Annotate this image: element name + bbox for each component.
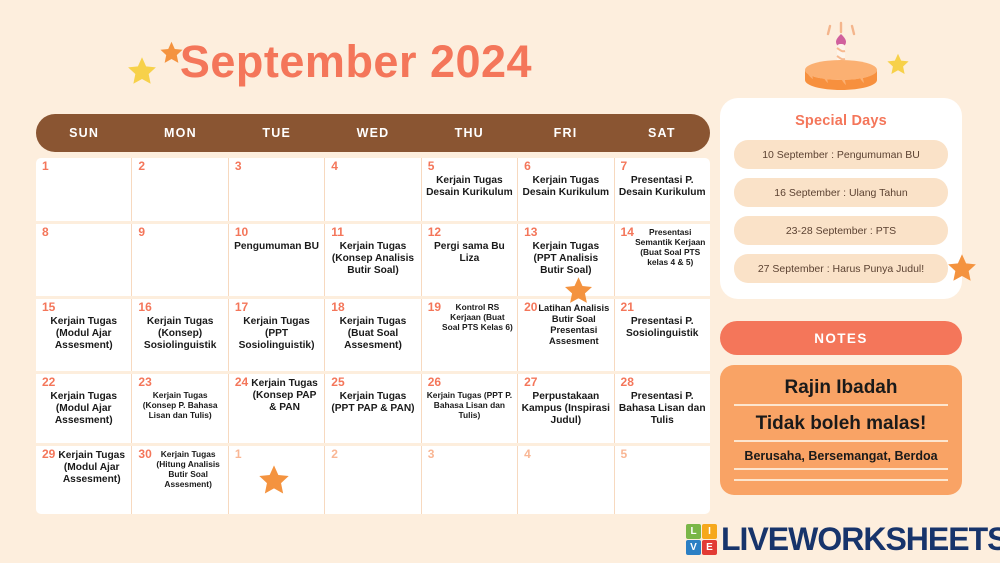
- day-event-text: Kerjain Tugas (Konsep P. Bahasa Lisan da…: [135, 391, 224, 421]
- calendar-day-cell[interactable]: 24Kerjain Tugas (Konsep PAP & PAN: [229, 374, 325, 443]
- birthday-cake-icon: [795, 14, 887, 96]
- star-icon-yellow-cake: [885, 52, 911, 78]
- day-event-text: Presentasi P. Desain Kurikulum: [618, 175, 707, 199]
- day-of-week-header: SUN MON TUE WED THU FRI SAT: [36, 114, 710, 152]
- page-title: September 2024: [0, 36, 712, 88]
- calendar-day-cell[interactable]: 26Kerjain Tugas (PPT P. Bahasa Lisan dan…: [422, 374, 518, 443]
- calendar-day-cell[interactable]: 3: [229, 158, 325, 221]
- calendar-day-cell[interactable]: 10Pengumuman BU: [229, 224, 325, 296]
- day-number: 4: [331, 160, 338, 173]
- calendar-day-cell[interactable]: 5Kerjain Tugas Desain Kurikulum: [422, 158, 518, 221]
- calendar-day-cell[interactable]: 18Kerjain Tugas (Buat Soal Assesment): [325, 299, 421, 371]
- calendar-day-cell[interactable]: 2: [132, 158, 228, 221]
- special-day-item[interactable]: 16 September : Ulang Tahun: [734, 178, 948, 207]
- dow-label-tue: TUE: [229, 126, 325, 140]
- day-number: 22: [42, 376, 55, 389]
- calendar-day-cell[interactable]: 21Presentasi P. Sosiolinguistik: [615, 299, 710, 371]
- day-number: 26: [428, 376, 441, 389]
- calendar-day-cell[interactable]: 11Kerjain Tugas (Konsep Analisis Butir S…: [325, 224, 421, 296]
- special-day-item[interactable]: 10 September : Pengumuman BU: [734, 140, 948, 169]
- day-number: 12: [428, 226, 441, 239]
- calendar-week-row: 22Kerjain Tugas (Modul Ajar Assesment)23…: [36, 374, 710, 443]
- logo-square-i: I: [702, 524, 717, 539]
- dow-label-wed: WED: [325, 126, 421, 140]
- calendar-day-cell[interactable]: 1: [36, 158, 132, 221]
- notes-button[interactable]: NOTES: [720, 321, 962, 355]
- day-event-text: Kerjain Tugas (Modul Ajar Assesment): [39, 316, 128, 352]
- day-event-text: Pengumuman BU: [232, 241, 321, 253]
- calendar-day-cell[interactable]: 16Kerjain Tugas (Konsep) Sosiolinguistik: [132, 299, 228, 371]
- note-line: Tidak boleh malas!: [734, 413, 948, 442]
- day-number: 9: [138, 226, 145, 239]
- calendar-day-cell[interactable]: 25Kerjain Tugas (PPT PAP & PAN): [325, 374, 421, 443]
- calendar-day-cell[interactable]: 28Presentasi P. Bahasa Lisan dan Tulis: [615, 374, 710, 443]
- day-number: 6: [524, 160, 531, 173]
- calendar-day-cell[interactable]: 19Kontrol RS Kerjaan (Buat Soal PTS Kela…: [422, 299, 518, 371]
- day-number: 18: [331, 301, 344, 314]
- calendar-day-cell[interactable]: 14Presentasi Semantik Kerjaan (Buat Soal…: [615, 224, 710, 296]
- day-number: 29: [42, 448, 55, 461]
- day-number: 25: [331, 376, 344, 389]
- day-number: 13: [524, 226, 537, 239]
- special-days-card: Special Days 10 September : Pengumuman B…: [720, 98, 962, 299]
- calendar-day-cell[interactable]: 15Kerjain Tugas (Modul Ajar Assesment): [36, 299, 132, 371]
- day-number: 27: [524, 376, 537, 389]
- day-number: 8: [42, 226, 49, 239]
- calendar-day-cell[interactable]: 30Kerjain Tugas (Hitung Analisis Butir S…: [132, 446, 228, 514]
- day-number: 14: [621, 226, 634, 239]
- day-number: 5: [621, 448, 628, 461]
- calendar-week-row: 29Kerjain Tugas (Modul Ajar Assesment)30…: [36, 446, 710, 514]
- day-number: 1: [42, 160, 49, 173]
- calendar-day-cell[interactable]: 12Pergi sama Bu Liza: [422, 224, 518, 296]
- day-event-text: Kerjain Tugas (Modul Ajar Assesment): [39, 391, 128, 427]
- liveworksheets-logo: LIVE LIVEWORKSHEETS: [686, 521, 1000, 557]
- dow-label-sun: SUN: [36, 126, 132, 140]
- day-number: 17: [235, 301, 248, 314]
- logo-text: LIVEWORKSHEETS: [721, 521, 1000, 558]
- day-number: 3: [428, 448, 435, 461]
- day-event-text: Pergi sama Bu Liza: [425, 241, 514, 265]
- calendar-day-cell[interactable]: 23Kerjain Tugas (Konsep P. Bahasa Lisan …: [132, 374, 228, 443]
- calendar-weeks: 12345Kerjain Tugas Desain Kurikulum6Kerj…: [36, 158, 710, 514]
- day-event-text: Kerjain Tugas (PPT Analisis Butir Soal): [521, 241, 610, 277]
- calendar-day-cell[interactable]: 4: [325, 158, 421, 221]
- note-line-blank: [734, 479, 948, 481]
- logo-square-e: E: [702, 540, 717, 555]
- calendar-day-cell[interactable]: 17Kerjain Tugas (PPT Sosiolinguistik): [229, 299, 325, 371]
- day-event-text: Kerjain Tugas Desain Kurikulum: [521, 175, 610, 199]
- calendar-week-row: 15Kerjain Tugas (Modul Ajar Assesment)16…: [36, 299, 710, 371]
- calendar-day-cell[interactable]: 6Kerjain Tugas Desain Kurikulum: [518, 158, 614, 221]
- dow-label-sat: SAT: [614, 126, 710, 140]
- day-number: 2: [331, 448, 338, 461]
- calendar-day-cell[interactable]: 27Perpustakaan Kampus (Inspirasi Judul): [518, 374, 614, 443]
- logo-squares: LIVE: [686, 524, 717, 555]
- day-number: 4: [524, 448, 531, 461]
- note-line: Rajin Ibadah: [734, 377, 948, 406]
- day-event-text: Kerjain Tugas (Konsep) Sosiolinguistik: [135, 316, 224, 352]
- calendar-day-cell[interactable]: 1: [229, 446, 325, 514]
- calendar-page: September 2024 SUN MON TUE WED THU FRI: [0, 0, 1000, 563]
- special-day-item[interactable]: 27 September : Harus Punya Judul!: [734, 254, 948, 283]
- day-event-text: Kerjain Tugas (Buat Soal Assesment): [328, 316, 417, 352]
- special-day-item[interactable]: 23-28 September : PTS: [734, 216, 948, 245]
- day-event-text: Kerjain Tugas (PPT PAP & PAN): [328, 391, 417, 415]
- day-number: 21: [621, 301, 634, 314]
- day-number: 1: [235, 448, 242, 461]
- day-event-text: Presentasi P. Sosiolinguistik: [618, 316, 707, 340]
- calendar-grid: SUN MON TUE WED THU FRI SAT 12345Kerjain…: [36, 114, 710, 517]
- day-event-text: Kerjain Tugas (PPT Sosiolinguistik): [232, 316, 321, 352]
- dow-label-thu: THU: [421, 126, 517, 140]
- calendar-day-cell[interactable]: 13Kerjain Tugas (PPT Analisis Butir Soal…: [518, 224, 614, 296]
- day-event-text: Kerjain Tugas Desain Kurikulum: [425, 175, 514, 199]
- dow-label-fri: FRI: [517, 126, 613, 140]
- day-number: 20: [524, 301, 537, 314]
- calendar-day-cell[interactable]: 2: [325, 446, 421, 514]
- note-line: Berusaha, Bersemangat, Berdoa: [734, 449, 948, 470]
- calendar-day-cell[interactable]: 29Kerjain Tugas (Modul Ajar Assesment): [36, 446, 132, 514]
- day-number: 10: [235, 226, 248, 239]
- day-event-text: Presentasi P. Bahasa Lisan dan Tulis: [618, 391, 707, 427]
- dow-label-mon: MON: [132, 126, 228, 140]
- calendar-day-cell[interactable]: 4: [518, 446, 614, 514]
- calendar-day-cell[interactable]: 3: [422, 446, 518, 514]
- day-number: 2: [138, 160, 145, 173]
- day-number: 19: [428, 301, 441, 314]
- day-event-text: Kerjain Tugas (Konsep Analisis Butir Soa…: [328, 241, 417, 277]
- notes-card: Rajin Ibadah Tidak boleh malas! Berusaha…: [720, 365, 962, 495]
- day-event-text: Perpustakaan Kampus (Inspirasi Judul): [521, 391, 610, 427]
- calendar-day-cell[interactable]: 20Latihan Analisis Butir Soal Presentasi…: [518, 299, 614, 371]
- day-number: 11: [331, 226, 344, 239]
- calendar-day-cell[interactable]: 9: [132, 224, 228, 296]
- day-number: 3: [235, 160, 242, 173]
- calendar-week-row: 8910Pengumuman BU11Kerjain Tugas (Konsep…: [36, 224, 710, 296]
- logo-square-v: V: [686, 540, 701, 555]
- day-number: 30: [138, 448, 151, 461]
- day-number: 24: [235, 376, 248, 389]
- day-number: 16: [138, 301, 151, 314]
- special-days-title: Special Days: [734, 113, 948, 129]
- calendar-day-cell[interactable]: 5: [615, 446, 710, 514]
- sidebar: Special Days 10 September : Pengumuman B…: [720, 98, 962, 495]
- calendar-day-cell[interactable]: 7Presentasi P. Desain Kurikulum: [615, 158, 710, 221]
- day-number: 15: [42, 301, 55, 314]
- logo-square-l: L: [686, 524, 701, 539]
- day-number: 28: [621, 376, 634, 389]
- day-number: 7: [621, 160, 628, 173]
- calendar-day-cell[interactable]: 8: [36, 224, 132, 296]
- day-number: 23: [138, 376, 151, 389]
- day-event-text: Kerjain Tugas (PPT P. Bahasa Lisan dan T…: [425, 391, 514, 421]
- day-number: 5: [428, 160, 435, 173]
- calendar-day-cell[interactable]: 22Kerjain Tugas (Modul Ajar Assesment): [36, 374, 132, 443]
- calendar-week-row: 12345Kerjain Tugas Desain Kurikulum6Kerj…: [36, 158, 710, 221]
